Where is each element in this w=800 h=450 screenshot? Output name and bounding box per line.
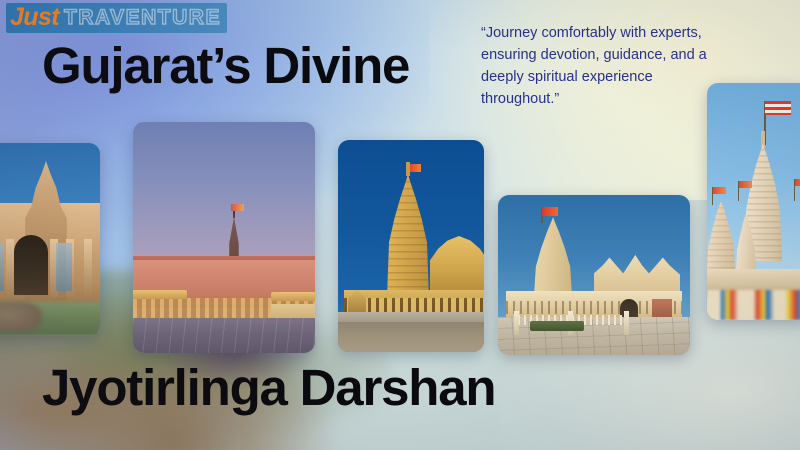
window (56, 243, 72, 291)
photo-card-ornate-stone-temple[interactable] (0, 143, 100, 336)
photo-card-somnath-temple-complex[interactable] (498, 195, 690, 355)
brand-logo-traventure: TRAVENTURE (64, 7, 221, 28)
headline-line-1: Gujarat’s Divine (42, 40, 409, 91)
canopy-left (133, 290, 187, 299)
canopy-right (271, 292, 315, 301)
railing-post (624, 311, 629, 335)
temple-archway (14, 235, 48, 295)
photo-card-dwarka-temple-dusk[interactable] (133, 122, 315, 353)
temple-flag (231, 204, 244, 211)
pillar (6, 239, 14, 297)
decorated-figures (707, 290, 800, 320)
saffron-flag (795, 179, 800, 186)
pillar (84, 239, 92, 297)
railing-post (514, 311, 519, 335)
brand-logo-just: Just (10, 5, 59, 30)
headline-line-2: Jyotirlinga Darshan (42, 362, 495, 413)
saffron-flag (713, 187, 726, 194)
sandy-ground (338, 322, 484, 352)
temple-flag (542, 207, 558, 216)
stone-plaza (133, 318, 315, 353)
window (0, 243, 4, 291)
main-temple-flag (765, 101, 791, 115)
garden-hedge (530, 321, 584, 331)
saffron-flag (739, 181, 752, 188)
tagline-quote: “Journey comfortably with experts, ensur… (481, 22, 731, 110)
brand-logo[interactable]: Just TRAVENTURE (6, 3, 227, 33)
foreground-rock (0, 302, 42, 332)
temple-flag (410, 164, 421, 172)
photo-card-white-temple-with-flags[interactable] (707, 83, 800, 320)
photo-card-golden-shikhara-temple[interactable] (338, 140, 484, 352)
poster-canvas: Just TRAVENTURE Gujarat’s Divine Jyotirl… (0, 0, 800, 450)
